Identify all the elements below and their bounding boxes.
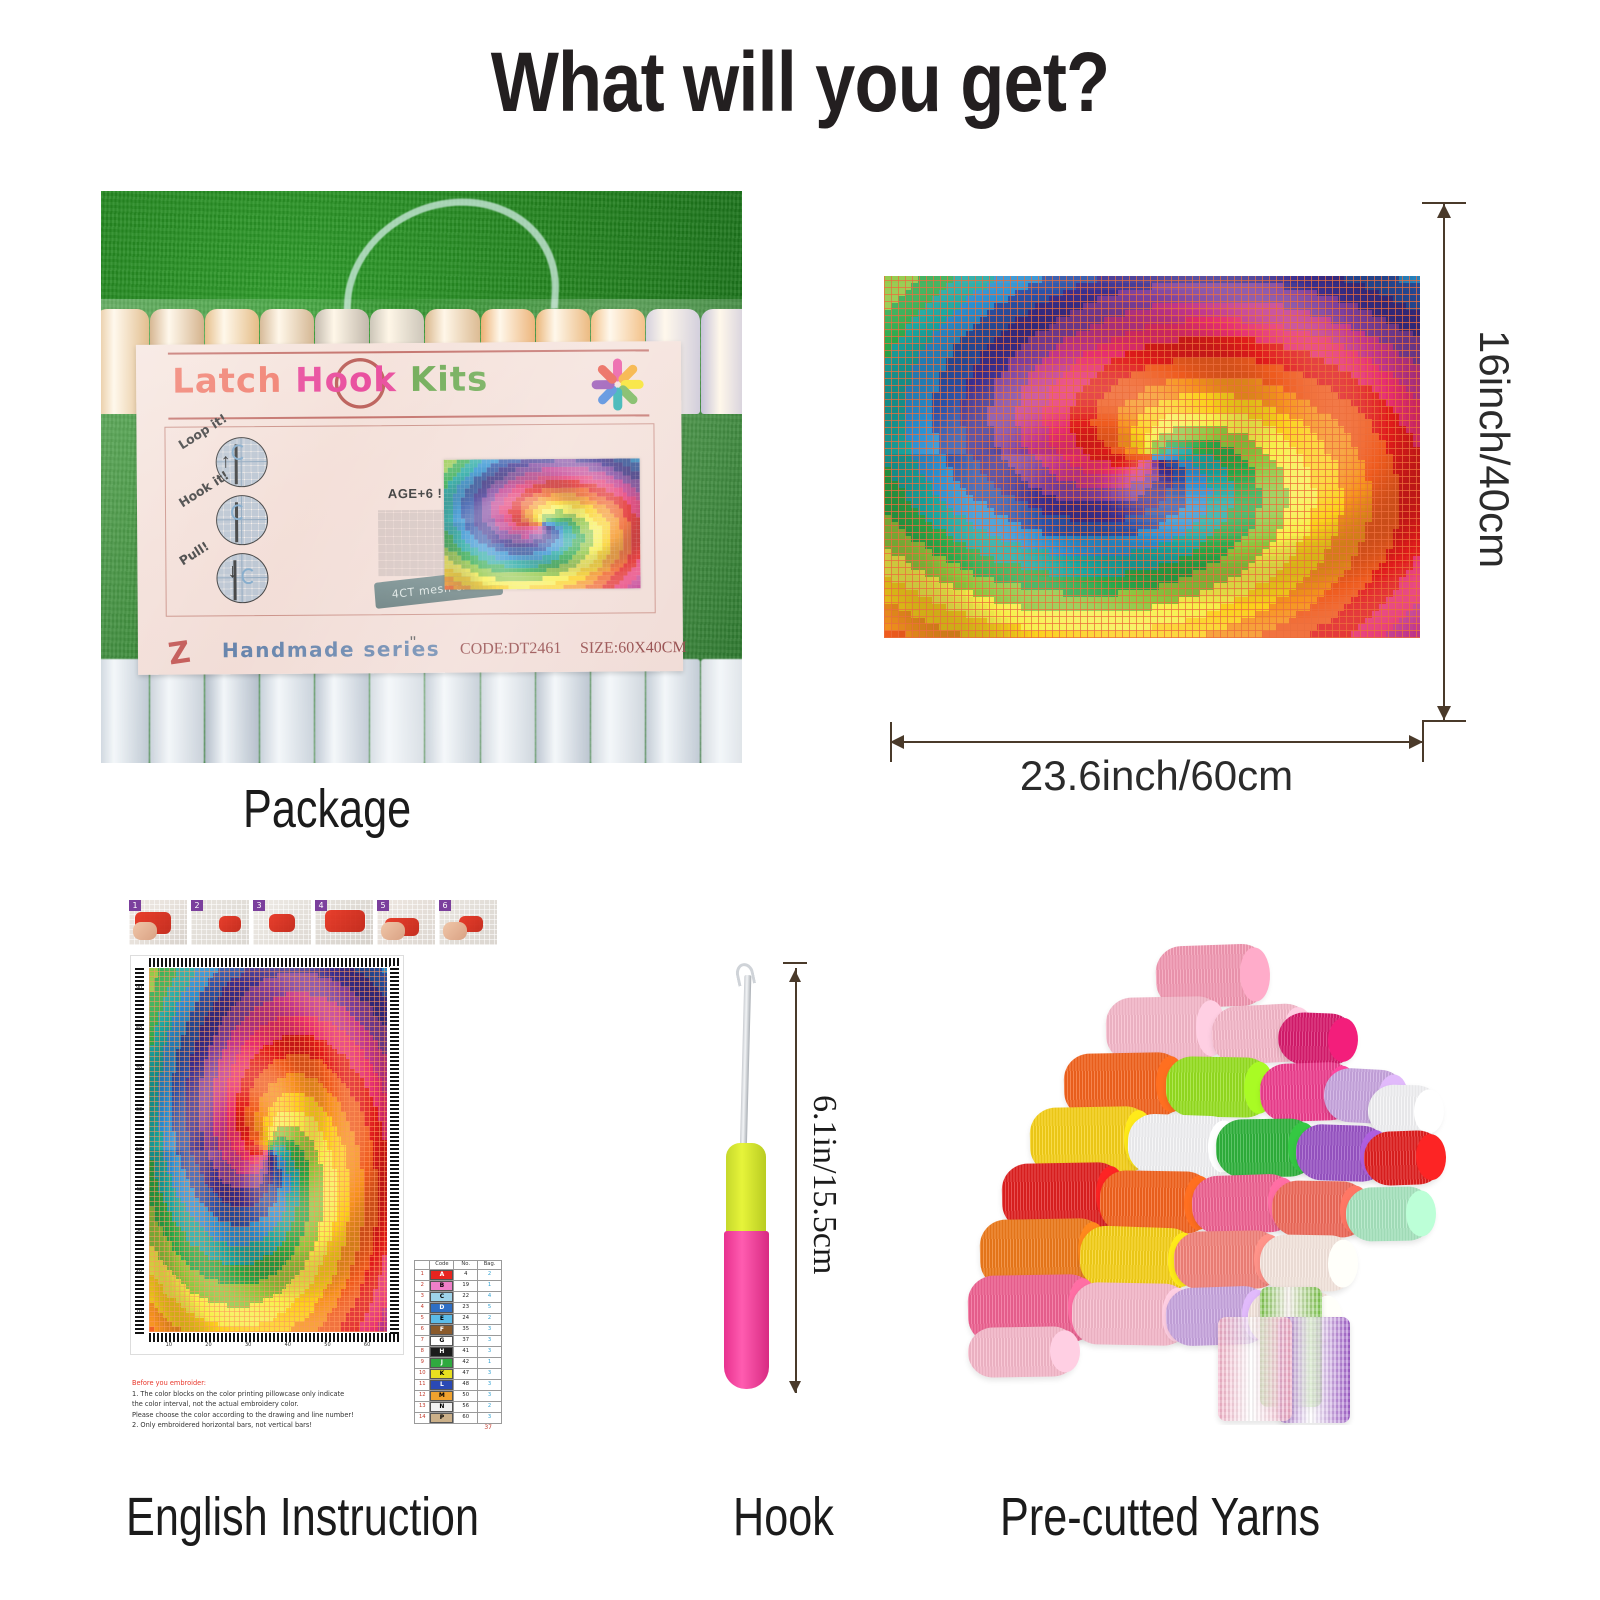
cell-bag: 3 [478,1346,502,1357]
hand-shape [381,922,405,940]
chart-x-axis-ticks: 102030405060 [149,1342,387,1354]
canvas-pixel-grid [884,276,1420,638]
yarn-piece [1363,1130,1445,1187]
yarn-roll [425,659,479,763]
step-thumbnail: 1 [129,900,187,945]
cell-index: 9 [415,1357,430,1368]
cell-code: C [430,1291,454,1302]
canvas-height-dimension-line [1443,202,1445,722]
dimension-arrow-down-icon [1437,706,1451,720]
label-brand-row: Latch Hook Kits [150,356,667,418]
color-swatch: F [430,1325,453,1335]
cell-no: 35 [454,1324,478,1335]
yarn-roll [701,309,742,414]
yarn-texture [1346,1186,1435,1242]
cell-index: 5 [415,1313,430,1324]
chart-y-tick: 40 [136,1187,142,1193]
step-thumbnail: 4 [315,900,373,945]
yarn-bundle [1218,1317,1292,1421]
yarn-roll [260,659,314,763]
dimension-arrow-up-icon [1437,204,1451,218]
hook-length-label: 6.1in/15.5cm [805,1095,843,1274]
chart-y-tick: 70 [136,1066,142,1072]
th-no: No. [454,1261,478,1270]
series-name: Handmade series [222,637,440,663]
cell-index: 3 [415,1291,430,1302]
cell-no: 4 [454,1269,478,1280]
yarn-texture [1368,1084,1443,1137]
yarn-rolls-bottom-row [101,659,742,763]
cell-bag: 2 [478,1401,502,1412]
cell-bag: 4 [478,1291,502,1302]
yarn-texture [1260,1234,1357,1292]
cell-index: 8 [415,1346,430,1357]
package-photo: Latch Hook Kits Loop it! ↑ [101,191,742,763]
cell-no: 19 [454,1280,478,1291]
color-swatch: J [430,1358,453,1368]
age-recommendation: AGE+6 ! [388,486,443,501]
cell-no: 24 [454,1313,478,1324]
yarn-texture [1277,1012,1357,1067]
yarn-roll [205,659,259,763]
chart-y-tick: 10 [136,1309,142,1315]
chart-y-tick: 50 [136,1147,142,1153]
step-thumbnail: 5 [377,900,435,945]
notes-heading: Before you embroider: [132,1378,432,1389]
package-label-card: Latch Hook Kits Loop it! ↑ [136,341,683,675]
label-inner-frame: Loop it! ↑ Hook it! [164,423,655,616]
cell-code: L [430,1379,454,1390]
color-swatch: N [430,1402,453,1412]
step-thumbnail: 3 [253,900,311,945]
table-row: 3C224 [415,1291,502,1302]
cell-bag: 3 [478,1324,502,1335]
chart-image [149,968,387,1332]
cell-no: 42 [454,1357,478,1368]
latch-hook-photo [700,955,820,1395]
canvas-height-label: 16inch/40cm [1470,330,1518,568]
thumbnail-number-badge: 5 [377,900,389,911]
step-thumbnail: 6 [439,900,497,945]
yarn-piece [1277,1012,1357,1067]
yarn-piece [1165,1056,1272,1118]
cell-no: 56 [454,1401,478,1412]
caption-hook: Hook [733,1486,834,1548]
cell-no: 41 [454,1346,478,1357]
yarn-texture [1165,1056,1272,1118]
color-swatch: G [430,1336,453,1346]
yarn-texture [1363,1130,1445,1187]
cell-code: K [430,1368,454,1379]
cell-no: 60 [454,1412,478,1423]
yarn-sample [325,910,365,932]
chart-x-tick: 20 [205,1342,211,1354]
yarn-piece [968,1326,1079,1378]
cell-code: B [430,1280,454,1291]
product-code: CODE:DT2461 [460,640,561,659]
chart-y-tick: 80 [136,1026,142,1032]
how-to-steps: Loop it! ↑ Hook it! [179,433,300,608]
color-swatch: K [430,1369,453,1379]
chart-x-tick: 60 [364,1342,370,1354]
brand-logo-icon: Z [166,631,214,667]
brand-word-hook: Hook [295,360,397,401]
caption-pre-cutted-yarns: Pre-cutted Yarns [1000,1486,1320,1548]
infographic-page: What will you get? Latch Hook Kits [0,0,1600,1600]
brand-word-kits: Kits [410,359,489,400]
step-diagram-circle: ↓ [216,553,268,603]
chart-mesh-overlay [149,968,387,1332]
cell-bag: 2 [478,1269,502,1280]
cell-no: 50 [454,1390,478,1401]
color-swatch: D [430,1303,453,1313]
color-swatch: H [430,1347,453,1357]
color-swatch: A [430,1270,453,1280]
color-swatch: P [430,1413,453,1423]
cell-no: 48 [454,1379,478,1390]
swatch-pixel-grid [444,458,641,589]
cell-code: J [430,1357,454,1368]
cell-index: 4 [415,1302,430,1313]
table-row: 9J421 [415,1357,502,1368]
table-header-row: Code No. Bag. [415,1261,502,1270]
english-instruction-sheet: 123456 102030405060 908070605040302010 C… [124,900,509,1460]
chart-ruler-top [149,958,399,967]
quote-mark: " [410,633,416,653]
yarn-loop-icon [241,568,255,584]
cell-code: P [430,1412,454,1423]
cell-no: 22 [454,1291,478,1302]
label-footer-row: Z Handmade series " CODE:DT2461 SIZE:60X… [160,629,665,667]
dimension-arrow-left-icon [890,735,904,749]
hook-arrow-up-icon [789,970,801,982]
cell-code: H [430,1346,454,1357]
pinwheel-logo-icon [587,354,647,414]
label-brand-title: Latch Hook Kits [172,359,488,401]
color-swatch: E [430,1314,453,1324]
yarn-roll [646,659,700,763]
hook-dimension-tick-top [783,962,807,964]
label-top-rule [168,349,649,354]
yarn-piece [1346,1186,1435,1242]
color-swatch: B [430,1281,453,1291]
canvas-width-dimension-line [890,741,1423,743]
yarn-roll [370,659,424,763]
hook-arrow-down-icon [789,1381,801,1393]
note-line: Please choose the color according to the… [132,1410,432,1421]
hook-handle-upper [726,1143,766,1235]
chart-x-tick: 10 [166,1342,172,1354]
table-row: 5E242 [415,1313,502,1324]
thumbnail-number-badge: 2 [191,900,203,911]
yarn-texture [968,1326,1079,1378]
step-diagram-circle [216,495,268,545]
yarn-roll [481,659,535,763]
cell-no: 47 [454,1368,478,1379]
yarn-sample [219,916,241,932]
cell-bag: 3 [478,1335,502,1346]
cell-bag: 3 [478,1379,502,1390]
cell-bag: 1 [478,1280,502,1291]
chart-y-tick: 30 [136,1228,142,1234]
table-row: 2B191 [415,1280,502,1291]
yarn-piece [1260,1234,1357,1292]
cell-code: F [430,1324,454,1335]
table-row: 4D235 [415,1302,502,1313]
chart-ruler-right [390,966,399,1334]
cell-code: G [430,1335,454,1346]
cell-code: N [430,1401,454,1412]
chart-y-tick: 90 [136,985,142,991]
cell-bag: 3 [478,1412,502,1423]
chart-x-tick: 50 [324,1342,330,1354]
brand-word-latch: Latch [172,361,283,402]
thumbnail-number-badge: 3 [253,900,265,911]
color-swatch: L [430,1380,453,1390]
cell-code: A [430,1269,454,1280]
chart-x-tick: 40 [285,1342,291,1354]
pre-cutted-yarns-photo [960,935,1460,1425]
table-row: 7G373 [415,1335,502,1346]
canvas-width-label: 23.6inch/60cm [890,752,1423,800]
note-line: the color interval, not the actual embro… [132,1399,432,1410]
note-line: 1. The color blocks on the color printin… [132,1389,432,1400]
before-you-embroider-notes: Before you embroider: 1. The color block… [132,1378,432,1431]
bundle-texture [1218,1317,1292,1421]
pattern-chart: 102030405060 908070605040302010 [130,955,404,1355]
hook-metal-shaft [740,975,752,1155]
cell-code: M [430,1390,454,1401]
cell-index: 7 [415,1335,430,1346]
table-row: 6F353 [415,1324,502,1335]
cell-index: 2 [415,1280,430,1291]
thumbnail-number-badge: 1 [129,900,141,911]
hand-shape [443,922,467,940]
hook-dimension-line [795,968,797,1393]
chart-y-tick: 20 [136,1268,142,1274]
cell-no: 23 [454,1302,478,1313]
color-swatch: C [430,1292,453,1302]
step-arrow-icon: ↓ [227,560,237,583]
chart-x-tick: 30 [245,1342,251,1354]
yarn-roll [701,659,742,763]
cell-index: 6 [415,1324,430,1335]
step-photo-strip: 123456 [129,900,497,945]
dimension-arrow-right-icon [1409,735,1423,749]
label-product-swatch [444,458,641,589]
note-line: 2. Only embroidered horizontal bars, not… [132,1420,432,1431]
dimension-tick-bottom [1422,720,1466,722]
cell-bag: 3 [478,1368,502,1379]
th-bag: Bag. [478,1261,502,1270]
cell-bag: 3 [478,1390,502,1401]
step-pull: Pull! ↓ [180,549,300,608]
cell-code: E [430,1313,454,1324]
yarn-roll [591,659,645,763]
yarn-roll [536,659,590,763]
cell-index: 1 [415,1269,430,1280]
yarn-roll [315,659,369,763]
page-title: What will you get? [112,34,1488,131]
yarn-loop-icon [231,504,245,520]
th-index [415,1261,430,1270]
hand-shape [133,922,157,940]
product-size: SIZE:60X40CM [580,639,687,658]
printed-canvas-photo [884,276,1420,638]
caption-package: Package [243,778,411,840]
cell-bag: 1 [478,1357,502,1368]
chart-y-tick: 60 [136,1107,142,1113]
cell-bag: 5 [478,1302,502,1313]
yarn-piece [1368,1084,1443,1137]
cell-no: 37 [454,1335,478,1346]
thumbnail-number-badge: 6 [439,900,451,911]
table-row: 8H413 [415,1346,502,1357]
step-thumbnail: 2 [191,900,249,945]
caption-english-instruction: English Instruction [126,1486,479,1548]
table-row: 1A42 [415,1269,502,1280]
thumbnail-number-badge: 4 [315,900,327,911]
cell-code: D [430,1302,454,1313]
th-code: Code [430,1261,454,1270]
yarn-sample [269,914,295,932]
cell-bag: 2 [478,1313,502,1324]
chart-ruler-bottom [149,1333,399,1342]
chart-y-axis-ticks: 908070605040302010 [132,968,146,1332]
yarn-loop-icon [232,444,246,460]
hook-handle-lower [724,1231,769,1389]
color-swatch: M [430,1391,453,1401]
